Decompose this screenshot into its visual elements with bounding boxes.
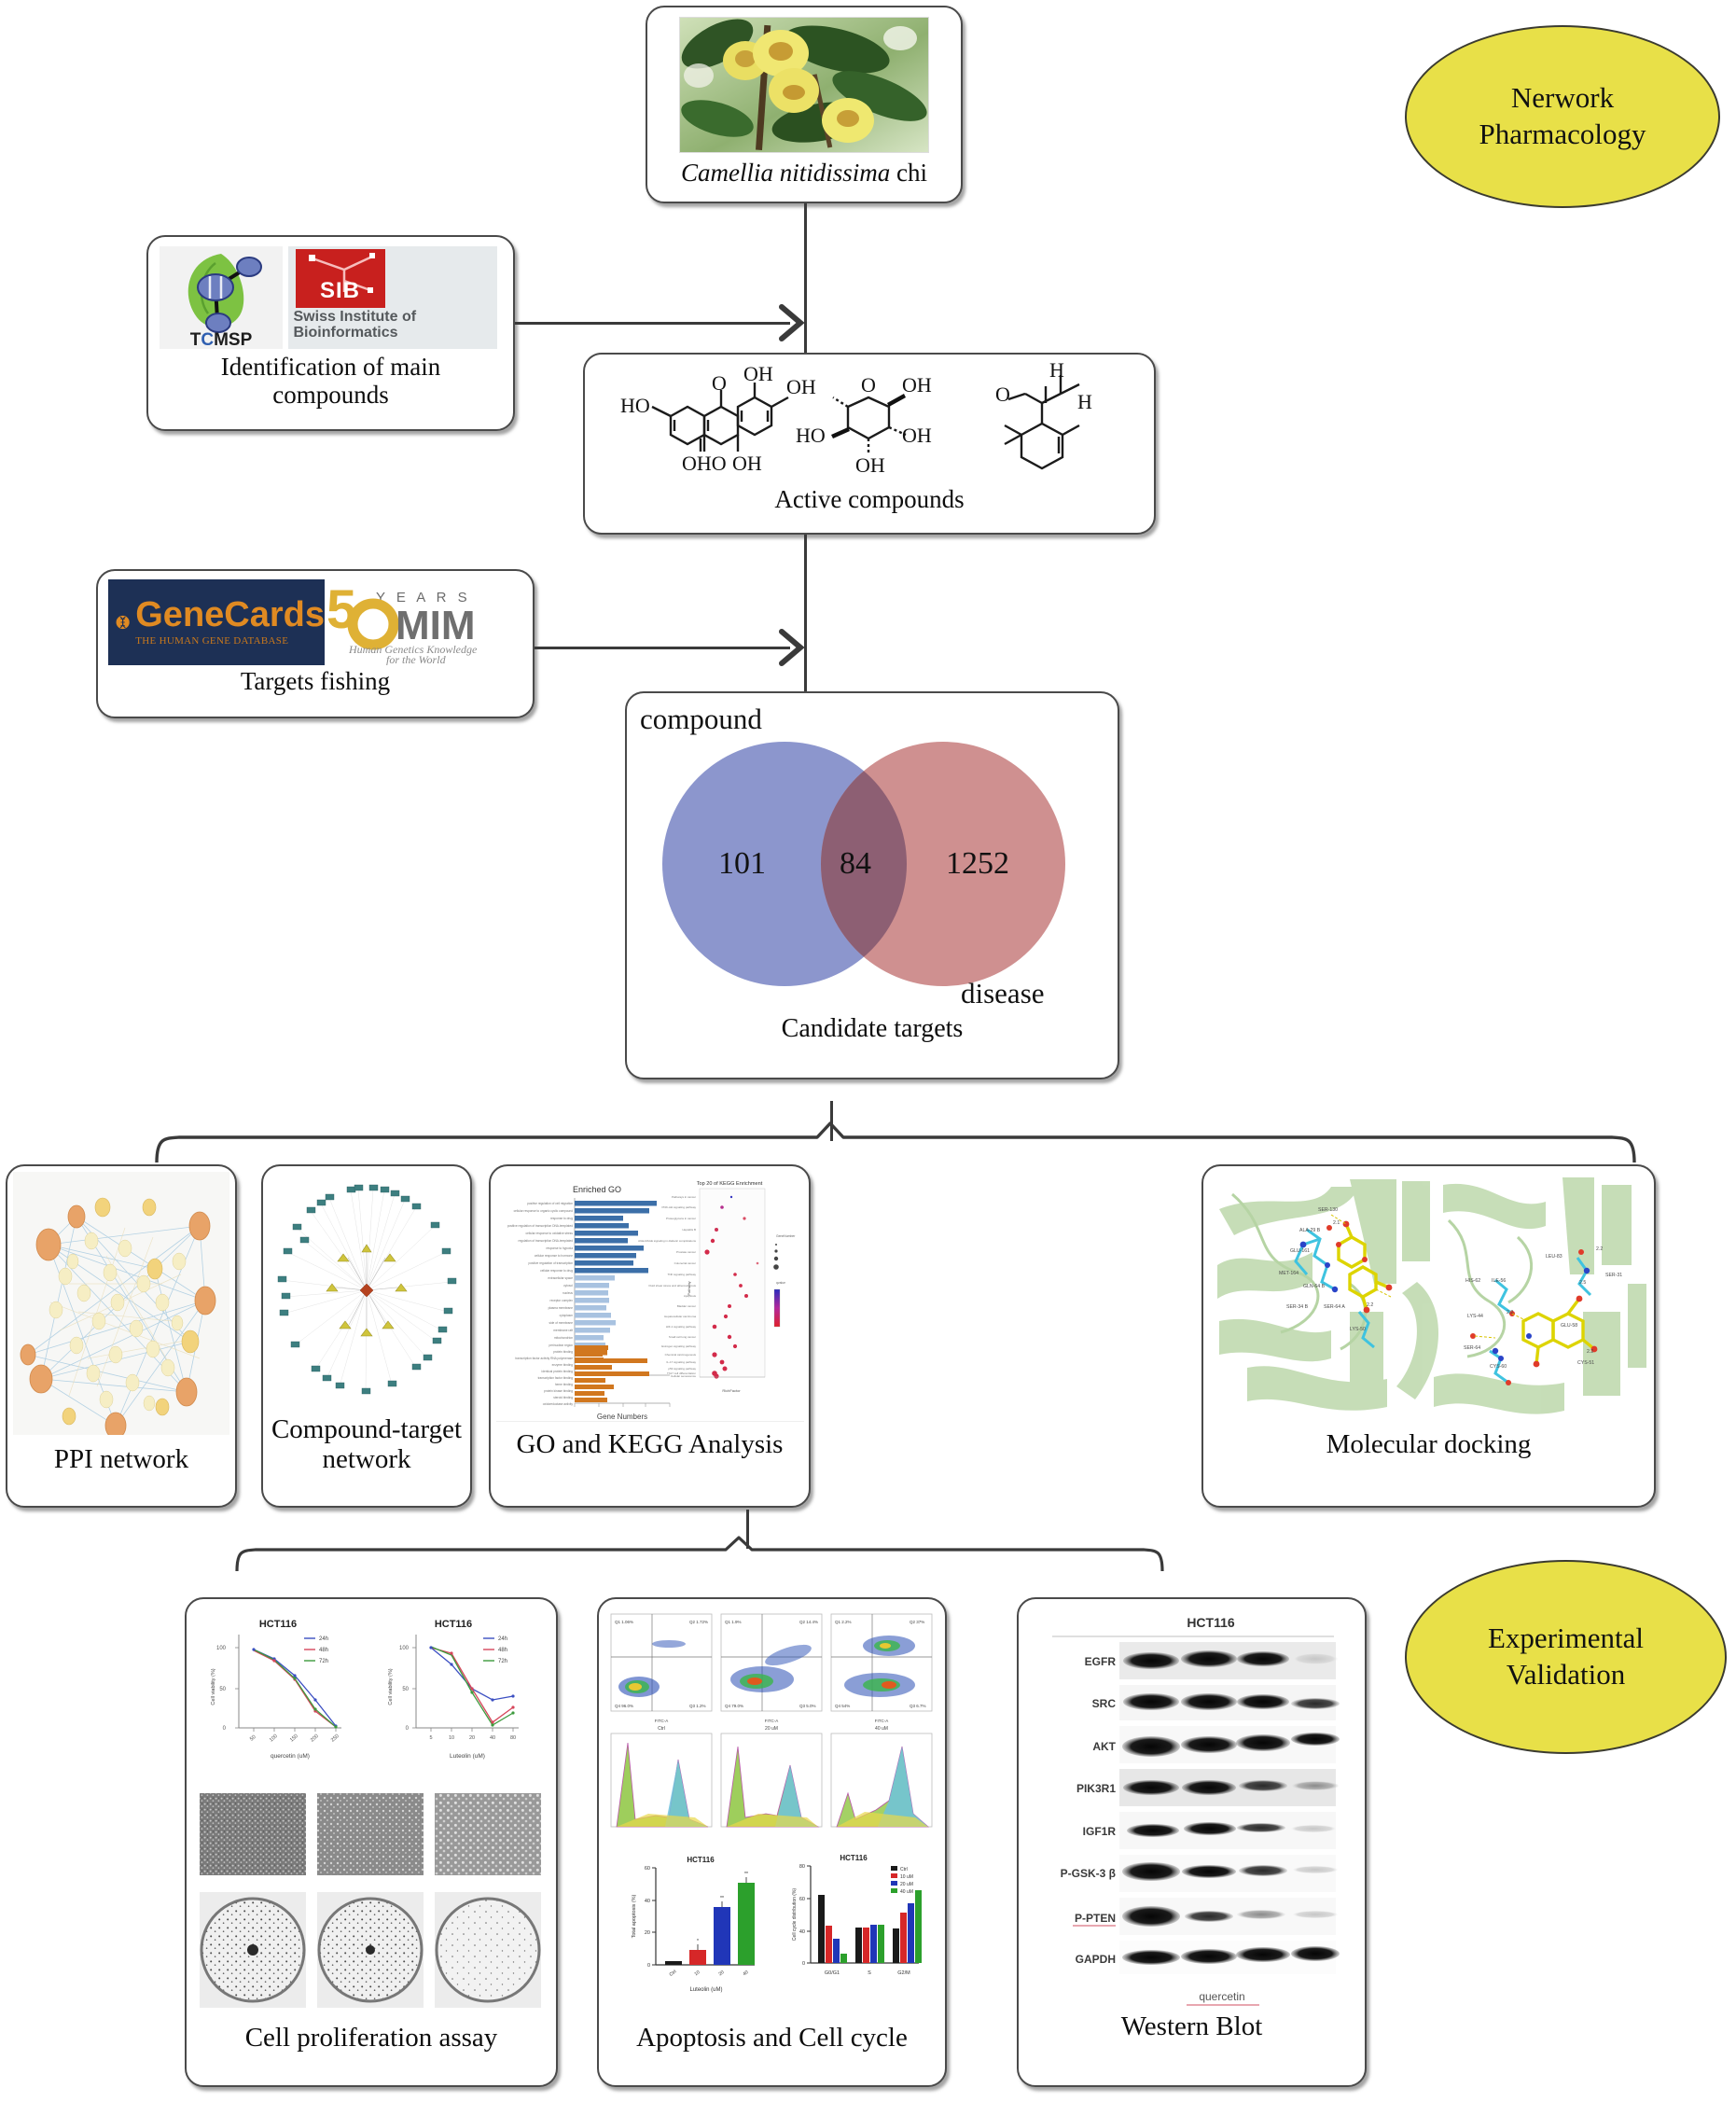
- western-blot-svg: HCT116 EGFR SRC AKT: [1026, 1608, 1357, 2010]
- svg-text:50: 50: [402, 1687, 409, 1692]
- svg-text:40 uM: 40 uM: [900, 1889, 913, 1895]
- flow-cytometry-plots: Q1 1.06% Q2 1.72% Q4 96.0% Q3 1.2% FITC-…: [611, 1614, 932, 1723]
- venn-count-intersection: 84: [840, 846, 871, 882]
- svg-text:Q3 5.0%: Q3 5.0%: [799, 1704, 816, 1708]
- apoptosis-cell-cycle-caption: Apoptosis and Cell cycle: [636, 2023, 908, 2053]
- svg-text:Ctrl: Ctrl: [668, 1969, 677, 1977]
- svg-text:40: 40: [490, 1735, 495, 1741]
- svg-text:identical protein binding: identical protein binding: [541, 1370, 573, 1373]
- svg-text:heme binding: heme binding: [554, 1383, 572, 1386]
- svg-text:10: 10: [693, 1970, 701, 1977]
- molecular-docking-box[interactable]: SER-130ALA-29 B GLU-161MET-164 GLN-64 BS…: [1201, 1164, 1656, 1508]
- svg-text:side of membrane: side of membrane: [549, 1321, 573, 1325]
- svg-text:Q1 1.06%: Q1 1.06%: [615, 1620, 633, 1624]
- western-blot-caption: Western Blot: [1121, 2012, 1263, 2041]
- apoptosis-svg: Q1 1.06% Q2 1.72% Q4 96.0% Q3 1.2% FITC-…: [605, 1607, 939, 2017]
- svg-text:Fluid shear stress and atheros: Fluid shear stress and atherosclerosis: [648, 1284, 696, 1288]
- svg-text:cellular response to oxidative: cellular response to oxidative stress: [525, 1232, 573, 1235]
- svg-text:50: 50: [249, 1734, 257, 1743]
- svg-text:S: S: [868, 1970, 871, 1976]
- svg-text:2.1: 2.1: [1333, 1220, 1340, 1226]
- svg-text:80: 80: [510, 1735, 516, 1741]
- svg-text:Ctrl: Ctrl: [658, 1726, 665, 1732]
- svg-text:FITC-A: FITC-A: [764, 1719, 778, 1723]
- svg-text:G0/G1: G0/G1: [824, 1970, 839, 1976]
- connector-plant-to-compounds: [804, 203, 807, 353]
- apoptosis-bar-chart: HCT116 6040 200: [632, 1856, 755, 1993]
- svg-text:quercetin (uM): quercetin (uM): [271, 1753, 310, 1760]
- genecards-logo: GeneCards THE HUMAN GENE DATABASE: [108, 579, 325, 665]
- svg-text:Cell cycle distribution (%): Cell cycle distribution (%): [792, 1888, 798, 1941]
- cell-proliferation-figure: HCT116 10050 0 50 100 150 200 250 que: [192, 1607, 550, 2017]
- svg-text:20: 20: [717, 1970, 725, 1977]
- compound-target-network-box[interactable]: Compound-target network: [261, 1164, 472, 1508]
- svg-text:24h: 24h: [319, 1636, 328, 1642]
- svg-text:cytosol: cytosol: [563, 1284, 573, 1288]
- svg-text:SER-64: SER-64: [1464, 1345, 1480, 1351]
- camellia-photo-svg: [680, 18, 929, 153]
- svg-text:SER-34 B: SER-34 B: [1286, 1304, 1309, 1310]
- svg-text:HCT116: HCT116: [435, 1619, 472, 1630]
- svg-text:H: H: [1049, 362, 1064, 382]
- svg-text:HO: HO: [796, 424, 826, 447]
- svg-text:Q1 2.2%: Q1 2.2%: [835, 1620, 852, 1624]
- svg-text:2.2: 2.2: [1507, 1310, 1513, 1315]
- svg-text:HCT116: HCT116: [259, 1619, 297, 1630]
- molecular-docking-caption: Molecular docking: [1326, 1429, 1532, 1459]
- genecards-logo-text: GeneCards: [135, 598, 325, 632]
- svg-text:positive regulation of transcr: positive regulation of transcription DNA…: [507, 1224, 572, 1228]
- svg-text:HCT116: HCT116: [840, 1854, 868, 1862]
- svg-text:plasma membrane: plasma membrane: [548, 1306, 573, 1310]
- svg-text:SER-31: SER-31: [1605, 1273, 1622, 1278]
- omim-logo: 5 Y E A R S MIM Human Genetics Knowledge…: [325, 579, 521, 665]
- ppi-network-box[interactable]: PPI network: [6, 1164, 237, 1508]
- blot-footer: quercetin: [1199, 1990, 1244, 2003]
- svg-text:IL-17 signaling pathway: IL-17 signaling pathway: [666, 1360, 696, 1364]
- svg-text:Luteolin (uM): Luteolin (uM): [450, 1753, 485, 1760]
- omim-logo-svg: 5 Y E A R S MIM Human Genetics Knowledge…: [325, 579, 521, 665]
- svg-text:PIK3R1: PIK3R1: [1076, 1782, 1116, 1795]
- brace-validation-row: [224, 1530, 1185, 1573]
- svg-text:Q2 14.4%: Q2 14.4%: [799, 1620, 818, 1624]
- svg-text:positive regulation of cell mi: positive regulation of cell migration: [527, 1202, 573, 1205]
- svg-text:Q4 79.0%: Q4 79.0%: [725, 1704, 743, 1708]
- enriched-go-title: Enriched GO: [572, 1185, 620, 1194]
- species-italic: Camellia nitidissima: [681, 159, 890, 187]
- svg-text:GLU-161: GLU-161: [1290, 1248, 1310, 1254]
- svg-text:O: O: [995, 383, 1010, 406]
- svg-text:20: 20: [469, 1735, 475, 1741]
- svg-text:**: **: [744, 1872, 748, 1877]
- svg-text:40: 40: [644, 1899, 649, 1904]
- svg-text:Apoptosis: Apoptosis: [683, 1294, 696, 1298]
- svg-text:5: 5: [429, 1735, 432, 1741]
- sib-logo: SIB Swiss Institute of Bioinformatics: [288, 246, 497, 349]
- svg-text:60: 60: [799, 1897, 804, 1902]
- genecards-dna-icon: [116, 590, 130, 655]
- identification-caption: Identification of main compounds: [221, 353, 440, 409]
- svg-text:100: 100: [216, 1646, 227, 1651]
- active-compounds-structures-svg: HO O OH OHO OH OH O OH HO OH: [594, 362, 1148, 485]
- svg-text:EGFR: EGFR: [1085, 1655, 1117, 1668]
- svg-text:P-PTEN: P-PTEN: [1075, 1912, 1116, 1925]
- svg-text:*: *: [697, 1939, 699, 1944]
- ppi-network-figure: [13, 1172, 229, 1435]
- svg-text:CYS-51: CYS-51: [1577, 1360, 1594, 1366]
- svg-text:GeneNumber: GeneNumber: [776, 1234, 796, 1238]
- svg-text:100: 100: [399, 1646, 410, 1651]
- svg-text:AKT: AKT: [1092, 1740, 1116, 1753]
- cell-cycle-bar-chart: HCT116 8060 400: [792, 1854, 922, 1976]
- svg-text:SRC: SRC: [1092, 1697, 1117, 1710]
- svg-text:H: H: [1077, 390, 1092, 413]
- quercetin-structure: HO O OH OHO OH OH: [620, 362, 816, 475]
- ppi-network-caption: PPI network: [54, 1444, 188, 1474]
- compound-target-network-svg: [269, 1172, 465, 1409]
- svg-text:TCMSP: TCMSP: [189, 330, 252, 349]
- identification-box[interactable]: TCMSP SIB Swiss Institute of Bioinformat…: [146, 235, 515, 431]
- svg-text:LYS-50: LYS-50: [1350, 1327, 1366, 1332]
- svg-text:GLN-64 B: GLN-64 B: [1303, 1284, 1326, 1289]
- svg-text:20: 20: [644, 1930, 649, 1936]
- svg-text:SER-64 A: SER-64 A: [1324, 1304, 1345, 1310]
- svg-text:72h: 72h: [498, 1659, 507, 1664]
- svg-text:PI3K-Akt signaling pathway: PI3K-Akt signaling pathway: [661, 1205, 696, 1209]
- experimental-validation-ellipse[interactable]: Experimental Validation: [1405, 1560, 1727, 1754]
- tcmsp-logo: TCMSP: [160, 246, 283, 349]
- svg-text:positive regulation of transcr: positive regulation of transcription: [528, 1261, 573, 1265]
- svg-text:Q2 37%: Q2 37%: [910, 1620, 924, 1624]
- svg-text:cytoplasm: cytoplasm: [559, 1314, 573, 1317]
- svg-text:HIS-62: HIS-62: [1465, 1278, 1480, 1284]
- svg-text:OH: OH: [786, 375, 816, 398]
- connector-compounds-to-candidate: [804, 535, 807, 691]
- svg-text:receptor complex: receptor complex: [549, 1299, 573, 1302]
- svg-text:OH: OH: [902, 373, 932, 397]
- blot-header: HCT116: [1187, 1615, 1235, 1630]
- svg-text:60: 60: [644, 1866, 649, 1872]
- svg-text:O: O: [861, 373, 876, 397]
- targets-fishing-caption: Targets fishing: [241, 667, 390, 695]
- svg-text:ALA-29 B: ALA-29 B: [1299, 1228, 1321, 1233]
- svg-text:MIM: MIM: [396, 603, 476, 648]
- svg-text:Cellular senescence: Cellular senescence: [670, 1374, 695, 1378]
- venn-count-compound-only: 101: [718, 846, 766, 882]
- western-blot-box[interactable]: HCT116 EGFR SRC AKT: [1017, 1597, 1367, 2087]
- candidate-targets-box[interactable]: compound 101 84 1252 disease Candidate t…: [625, 691, 1119, 1079]
- svg-text:0: 0: [223, 1726, 227, 1732]
- venn-count-disease-only: 1252: [946, 846, 1009, 882]
- svg-text:HCT116: HCT116: [687, 1856, 715, 1864]
- network-pharmacology-ellipse[interactable]: Nerwork Pharmacology: [1405, 25, 1720, 208]
- sib-logo-text: SIB: [320, 278, 360, 304]
- svg-text:0: 0: [646, 1963, 649, 1969]
- svg-text:0: 0: [406, 1726, 410, 1732]
- svg-text:80: 80: [799, 1864, 804, 1870]
- svg-text:2.2: 2.2: [1596, 1246, 1603, 1252]
- molecular-docking-svg: SER-130ALA-29 B GLU-161MET-164 GLN-64 BS…: [1210, 1172, 1648, 1426]
- kegg-title: Top 20 of KEGG Enrichment: [696, 1181, 762, 1187]
- genecards-subtitle: THE HUMAN GENE DATABASE: [135, 635, 325, 647]
- svg-text:Q3 6.7%: Q3 6.7%: [910, 1704, 926, 1708]
- svg-text:100: 100: [269, 1733, 279, 1744]
- svg-text:250: 250: [330, 1733, 340, 1744]
- targets-fishing-box[interactable]: GeneCards THE HUMAN GENE DATABASE 5 Y E …: [96, 569, 535, 718]
- svg-text:HIF-1 signaling pathway: HIF-1 signaling pathway: [665, 1325, 696, 1329]
- svg-text:response to hypoxia: response to hypoxia: [546, 1246, 573, 1250]
- svg-text:response to drug: response to drug: [550, 1217, 573, 1220]
- svg-text:P-GSK-3 β: P-GSK-3 β: [1061, 1867, 1116, 1880]
- active-compounds-box[interactable]: HO O OH OHO OH OH O OH HO OH: [583, 353, 1156, 535]
- svg-text:G2/M: G2/M: [897, 1970, 910, 1976]
- svg-text:OH: OH: [732, 452, 762, 475]
- rhamnose-sugar-structure: O OH HO OH OH: [796, 373, 932, 477]
- svg-text:FITC-A: FITC-A: [654, 1719, 668, 1723]
- svg-text:20 uM: 20 uM: [900, 1882, 913, 1887]
- svg-text:GAPDH: GAPDH: [1076, 1953, 1116, 1966]
- svg-text:Ctrl: Ctrl: [900, 1867, 908, 1872]
- svg-text:regulation of transcription DN: regulation of transcription DNA-template…: [518, 1239, 573, 1243]
- svg-text:Colorectal cancer: Colorectal cancer: [674, 1261, 695, 1265]
- svg-text:48h: 48h: [498, 1648, 507, 1653]
- svg-text:Total apoptosis (%): Total apoptosis (%): [632, 1894, 637, 1938]
- svg-text:HO: HO: [620, 394, 650, 417]
- venn-label-disease: disease: [961, 977, 1045, 1010]
- svg-text:transcription factor binding: transcription factor binding: [537, 1376, 573, 1380]
- svg-text:0: 0: [801, 1961, 804, 1967]
- svg-text:p53 signaling pathway: p53 signaling pathway: [668, 1367, 696, 1371]
- svg-text:20 uM: 20 uM: [765, 1726, 778, 1732]
- arrow-identification-to-compounds: [515, 322, 790, 325]
- svg-text:Estrogen signaling pathway: Estrogen signaling pathway: [661, 1344, 696, 1348]
- cell-cycle-histograms: Ctrl 20 uM 40 uM: [611, 1726, 932, 1827]
- apoptosis-cell-cycle-box[interactable]: Q1 1.06% Q2 1.72% Q4 96.0% Q3 1.2% FITC-…: [597, 1597, 947, 2087]
- svg-text:OHO: OHO: [682, 452, 727, 475]
- svg-text:**: **: [720, 1896, 724, 1901]
- camellia-flower-photo: [679, 17, 929, 153]
- svg-text:Luteolin (uM): Luteolin (uM): [689, 1987, 722, 1993]
- svg-text:LEU-83: LEU-83: [1546, 1254, 1562, 1260]
- svg-text:extracellular space: extracellular space: [548, 1276, 573, 1280]
- svg-text:24h: 24h: [498, 1636, 507, 1642]
- arrow-targets-to-candidate: [535, 647, 790, 649]
- svg-text:CYS-60: CYS-60: [1490, 1364, 1507, 1370]
- svg-text:SER-130: SER-130: [1318, 1207, 1338, 1213]
- go-kegg-figure: Enriched GO: [496, 1172, 804, 1422]
- svg-text:steroid binding: steroid binding: [553, 1396, 573, 1399]
- svg-text:2.5: 2.5: [1579, 1280, 1586, 1286]
- svg-text:50: 50: [219, 1687, 226, 1692]
- svg-text:qvalue: qvalue: [776, 1281, 785, 1285]
- svg-text:200: 200: [310, 1733, 320, 1744]
- go-kegg-box[interactable]: Enriched GO: [489, 1164, 811, 1508]
- svg-text:protein binding: protein binding: [553, 1350, 573, 1354]
- svg-text:10: 10: [449, 1735, 454, 1741]
- svg-text:cellular response to organic c: cellular response to organic cyclic comp…: [513, 1209, 573, 1213]
- western-blot-figure: HCT116 EGFR SRC AKT: [1026, 1608, 1357, 2010]
- svg-text:GLU-58: GLU-58: [1561, 1323, 1577, 1329]
- go-xlabel: Gene Numbers: [596, 1413, 646, 1421]
- tcmsp-logo-svg: TCMSP: [160, 246, 283, 349]
- svg-text:membrane raft: membrane raft: [553, 1329, 573, 1332]
- sib-subtitle: Swiss Institute of Bioinformatics: [294, 310, 492, 341]
- svg-text:Q3 1.2%: Q3 1.2%: [689, 1704, 706, 1708]
- candidate-targets-caption: Candidate targets: [782, 1014, 964, 1043]
- compound-target-network-figure: [269, 1172, 465, 1409]
- svg-text:Q4 54%: Q4 54%: [835, 1704, 850, 1708]
- molecular-docking-figure: SER-130ALA-29 B GLU-161MET-164 GLN-64 BS…: [1210, 1172, 1648, 1426]
- svg-text:40 uM: 40 uM: [875, 1726, 888, 1732]
- svg-text:Q1 1.9%: Q1 1.9%: [725, 1620, 742, 1624]
- svg-text:cellular response to hormone: cellular response to hormone: [534, 1254, 572, 1258]
- svg-text:nucleus: nucleus: [562, 1291, 573, 1295]
- svg-text:for the World: for the World: [386, 653, 447, 665]
- svg-text:Bladder cancer: Bladder cancer: [676, 1304, 695, 1308]
- go-kegg-caption: GO and KEGG Analysis: [517, 1429, 784, 1459]
- svg-text:Cell viability (%): Cell viability (%): [388, 1668, 394, 1705]
- svg-text:OH: OH: [902, 424, 932, 447]
- plant-species-caption: Camellia nitidissima chi: [681, 159, 927, 187]
- cell-proliferation-box[interactable]: HCT116 10050 0 50 100 150 200 250 que: [185, 1597, 558, 2087]
- svg-text:LYS-44: LYS-44: [1467, 1314, 1483, 1319]
- svg-text:cellular response to drug: cellular response to drug: [540, 1269, 573, 1273]
- svg-text:protein kinase binding: protein kinase binding: [543, 1389, 572, 1393]
- svg-text:perinuclear region: perinuclear region: [549, 1343, 573, 1347]
- svg-text:ILE-56: ILE-56: [1492, 1278, 1506, 1284]
- svg-text:oxidoreductase activity: oxidoreductase activity: [542, 1402, 573, 1406]
- svg-text:72h: 72h: [319, 1659, 328, 1664]
- svg-text:150: 150: [289, 1733, 299, 1744]
- svg-text:10 uM: 10 uM: [900, 1874, 913, 1880]
- proliferation-svg: HCT116 10050 0 50 100 150 200 250 que: [192, 1607, 550, 2017]
- svg-text:40: 40: [799, 1929, 804, 1935]
- svg-text:Pathways in cancer: Pathways in cancer: [671, 1195, 695, 1199]
- brace-analysis-row: [140, 1118, 1651, 1164]
- svg-text:2.2: 2.2: [1587, 1349, 1593, 1355]
- svg-text:OH: OH: [855, 453, 885, 477]
- svg-text:AGE-RAGE signaling in diabetic: AGE-RAGE signaling in diabetic complicat…: [638, 1239, 696, 1243]
- svg-text:40: 40: [742, 1970, 749, 1977]
- svg-text:FITC-A: FITC-A: [874, 1719, 888, 1723]
- svg-text:RichFactor: RichFactor: [722, 1388, 741, 1393]
- sib-red-square: SIB: [296, 249, 385, 308]
- svg-text:Q2 1.72%: Q2 1.72%: [689, 1620, 708, 1624]
- terpenoid-ketone-structure: O H H: [995, 362, 1092, 468]
- svg-text:Hepatocellular carcinoma: Hepatocellular carcinoma: [664, 1315, 696, 1318]
- apoptosis-figure: Q1 1.06% Q2 1.72% Q4 96.0% Q3 1.2% FITC-…: [605, 1607, 939, 2017]
- plant-source-box[interactable]: Camellia nitidissima chi: [646, 6, 963, 203]
- svg-text:Small cell lung cancer: Small cell lung cancer: [668, 1335, 695, 1339]
- svg-text:IGF1R: IGF1R: [1083, 1825, 1117, 1838]
- svg-text:TNF signaling pathway: TNF signaling pathway: [667, 1273, 696, 1276]
- svg-text:OH: OH: [743, 362, 773, 385]
- svg-text:Cell viability (%): Cell viability (%): [211, 1668, 216, 1705]
- svg-text:MET-164: MET-164: [1279, 1271, 1299, 1276]
- go-kegg-svg: Enriched GO: [496, 1172, 804, 1422]
- svg-text:48h: 48h: [319, 1648, 328, 1653]
- ppi-network-svg: [13, 1172, 229, 1435]
- svg-text:O: O: [712, 371, 727, 395]
- svg-text:Chemical carcinogenesis: Chemical carcinogenesis: [664, 1353, 696, 1357]
- svg-text:Proteoglycans in cancer: Proteoglycans in cancer: [665, 1217, 695, 1220]
- svg-text:Q4 96.0%: Q4 96.0%: [615, 1704, 633, 1708]
- svg-text:mitochondrion: mitochondrion: [553, 1336, 572, 1340]
- svg-text:enzyme binding: enzyme binding: [551, 1363, 573, 1367]
- svg-text:2.2: 2.2: [1367, 1302, 1373, 1308]
- active-compounds-caption: Active compounds: [774, 485, 964, 513]
- svg-text:Hepatitis B: Hepatitis B: [682, 1228, 696, 1232]
- svg-text:transcription factor activity: transcription factor activity RNA polyme…: [515, 1357, 573, 1360]
- compound-target-network-caption: Compound-target network: [271, 1414, 462, 1475]
- cell-proliferation-caption: Cell proliferation assay: [245, 2023, 498, 2053]
- species-rest: chi: [890, 159, 927, 187]
- svg-text:Prostate cancer: Prostate cancer: [675, 1250, 695, 1254]
